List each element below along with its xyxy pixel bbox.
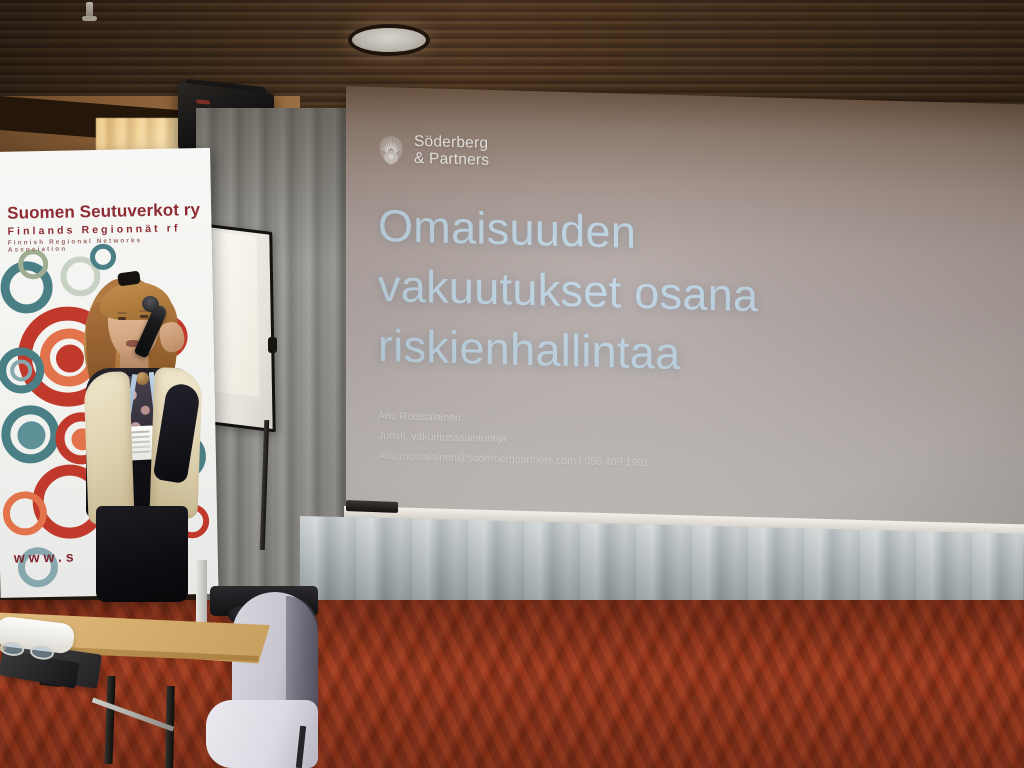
eye-left	[118, 317, 126, 320]
stand-pole	[196, 560, 207, 622]
sprinkler-head-icon	[86, 2, 93, 20]
banner-subtitle-en: Finnish Regional Networks Association	[8, 236, 204, 254]
projection-screen: Söderberg & Partners Omaisuuden vakuutuk…	[346, 86, 1024, 544]
recessed-downlight-icon	[352, 28, 426, 52]
banner-subtitle-sv: Finlands Regionnät rf	[7, 222, 203, 238]
flipchart-clip	[268, 337, 277, 353]
eye-right	[140, 315, 148, 318]
eyebrow-left	[117, 312, 127, 314]
screen-clamp	[346, 500, 398, 513]
banner-title: Suomen Seutuverkot ry	[7, 200, 203, 224]
presentation-room-photo: Söderberg & Partners Omaisuuden vakuutuk…	[0, 0, 1024, 768]
skirt	[96, 506, 188, 602]
pendant-necklace	[136, 372, 149, 385]
vest-left-panel	[83, 371, 134, 525]
screen-vignette	[346, 86, 1024, 544]
presenter-person	[56, 268, 224, 600]
